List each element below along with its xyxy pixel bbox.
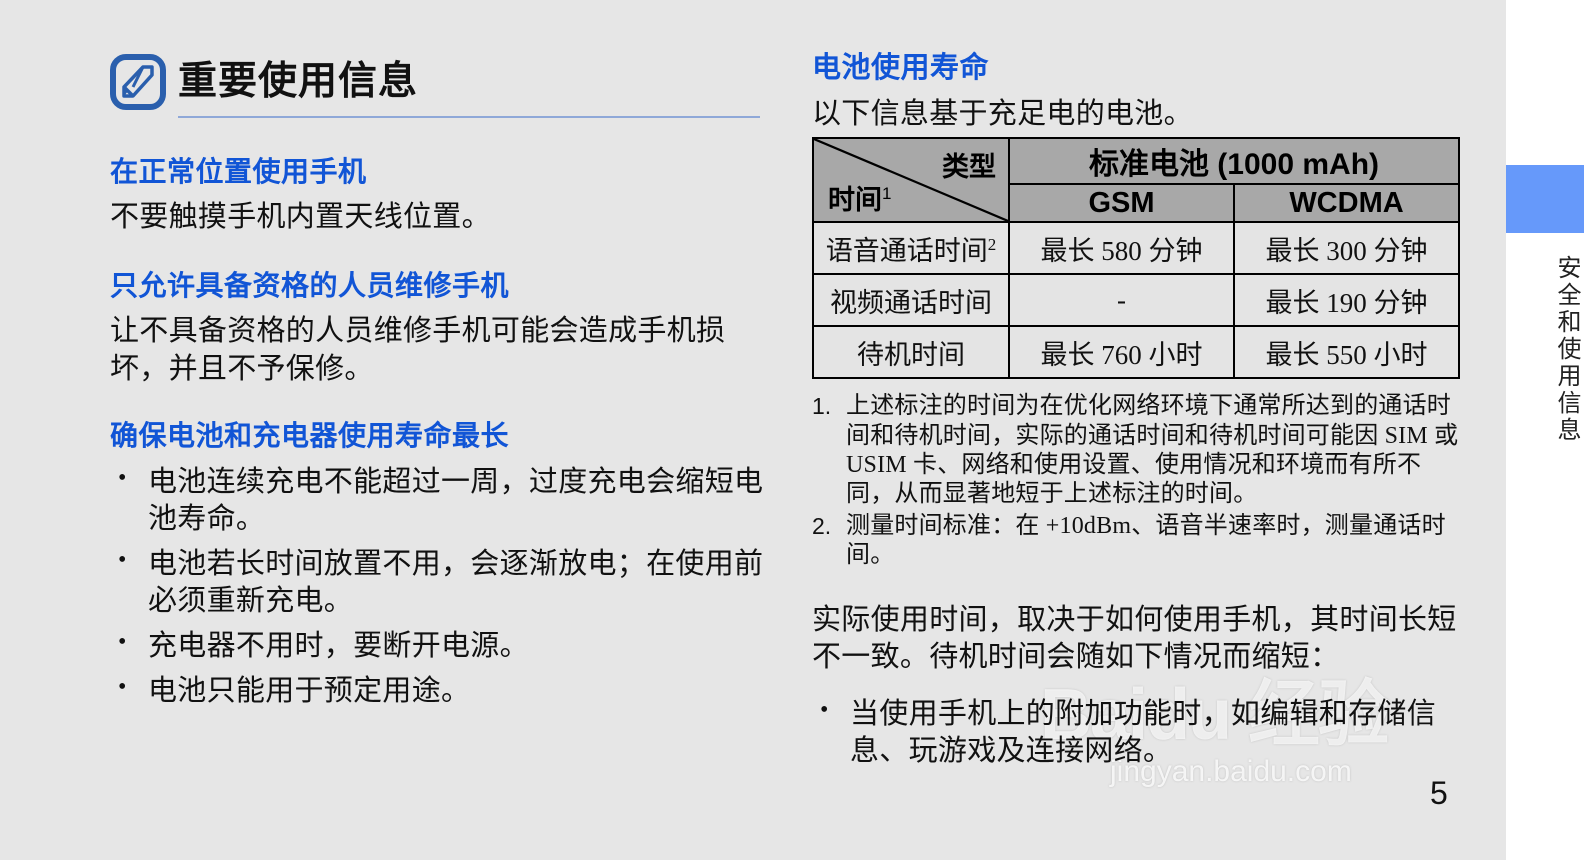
battery-life-intro: 以下信息基于充足电的电池。: [812, 96, 1462, 133]
page-title-row: 重要使用信息: [110, 52, 770, 112]
footnote-number: 2.: [812, 512, 846, 571]
section-paragraph: 让不具备资格的人员维修手机可能会造成手机损坏，并且不予保修。: [110, 313, 770, 387]
table-header-row: 类型 时间1 标准电池 (1000 mAh): [813, 138, 1459, 184]
table-corner-time-label: 时间1: [828, 178, 891, 217]
page-number: 5: [1430, 775, 1448, 812]
table-row: 语音通话时间2 最长 580 分钟 最长 300 分钟: [813, 222, 1459, 274]
table-row-label: 视频通话时间: [813, 274, 1009, 326]
battery-life-heading: 电池使用寿命: [812, 52, 1462, 85]
side-tab-color-block: [1506, 165, 1584, 233]
table-footnotes: 1. 上述标注的时间为在优化网络环境下通常所达到的通话时间和待机时间，实际的通话…: [812, 392, 1462, 570]
list-item: 电池只能用于预定用途。: [110, 673, 770, 710]
standby-reduction-bullet-list: 当使用手机上的附加功能时，如编辑和存储信息、玩游戏及连接网络。: [812, 696, 1462, 770]
footnote-text: 上述标注的时间为在优化网络环境下通常所达到的通话时间和待机时间，实际的通话时间和…: [846, 392, 1462, 509]
table-row: 视频通话时间 - 最长 190 分钟: [813, 274, 1459, 326]
table-corner-cell: 类型 时间1: [813, 138, 1009, 222]
side-tab: 安全和使用信息: [1506, 165, 1584, 444]
battery-life-table: 类型 时间1 标准电池 (1000 mAh) GSM WCDMA 语音通话时间2…: [812, 137, 1460, 379]
list-item: 电池若长时间放置不用，会逐渐放电；在使用前必须重新充电。: [110, 546, 770, 620]
section-heading: 只允许具备资格的人员维修手机: [110, 270, 770, 302]
right-column: 电池使用寿命 以下信息基于充足电的电池。 类型 时间1 标准电池 (1000 m…: [812, 52, 1462, 778]
section-heading: 确保电池和充电器使用寿命最长: [110, 420, 770, 452]
section-qualified-service: 只允许具备资格的人员维修手机 让不具备资格的人员维修手机可能会造成手机损坏，并且…: [110, 270, 770, 387]
title-underline: [178, 116, 760, 118]
table-row-label: 语音通话时间2: [813, 222, 1009, 274]
list-item: 充电器不用时，要断开电源。: [110, 628, 770, 665]
section-heading: 在正常位置使用手机: [110, 156, 770, 188]
table-cell-wcdma: 最长 300 分钟: [1234, 222, 1459, 274]
side-tab-label: 安全和使用信息: [1506, 255, 1584, 444]
table-corner-type-label: 类型: [942, 145, 996, 184]
table-row: 待机时间 最长 760 小时 最长 550 小时: [813, 326, 1459, 378]
footnote: 1. 上述标注的时间为在优化网络环境下通常所达到的通话时间和待机时间，实际的通话…: [812, 392, 1462, 509]
footnote-number: 1.: [812, 392, 846, 509]
table-column-gsm: GSM: [1009, 184, 1234, 222]
footnote-text: 测量时间标准：在 +10dBm、语音半速率时，测量通话时间。: [846, 512, 1462, 571]
section-battery-charger-life: 确保电池和充电器使用寿命最长 电池连续充电不能超过一周，过度充电会缩短电池寿命。…: [110, 420, 770, 711]
table-cell-gsm: 最长 580 分钟: [1009, 222, 1234, 274]
footnote: 2. 测量时间标准：在 +10dBm、语音半速率时，测量通话时间。: [812, 512, 1462, 571]
left-column: 重要使用信息 在正常位置使用手机 不要触摸手机内置天线位置。 只允许具备资格的人…: [110, 52, 770, 719]
section-normal-position: 在正常位置使用手机 不要触摸手机内置天线位置。: [110, 156, 770, 236]
table-cell-wcdma: 最长 190 分钟: [1234, 274, 1459, 326]
usage-time-paragraph: 实际使用时间，取决于如何使用手机，其时间长短不一致。待机时间会随如下情况而缩短：: [812, 602, 1462, 676]
table-cell-gsm: -: [1009, 274, 1234, 326]
table-cell-wcdma: 最长 550 小时: [1234, 326, 1459, 378]
battery-care-bullet-list: 电池连续充电不能超过一周，过度充电会缩短电池寿命。 电池若长时间放置不用，会逐渐…: [110, 464, 770, 711]
table-group-header: 标准电池 (1000 mAh): [1009, 138, 1459, 184]
table-column-wcdma: WCDMA: [1234, 184, 1459, 222]
pen-note-icon: [110, 54, 166, 110]
list-item: 当使用手机上的附加功能时，如编辑和存储信息、玩游戏及连接网络。: [812, 696, 1462, 770]
table-cell-gsm: 最长 760 小时: [1009, 326, 1234, 378]
table-row-label: 待机时间: [813, 326, 1009, 378]
list-item: 电池连续充电不能超过一周，过度充电会缩短电池寿命。: [110, 464, 770, 538]
page-title: 重要使用信息: [178, 62, 418, 103]
section-paragraph: 不要触摸手机内置天线位置。: [110, 199, 770, 236]
